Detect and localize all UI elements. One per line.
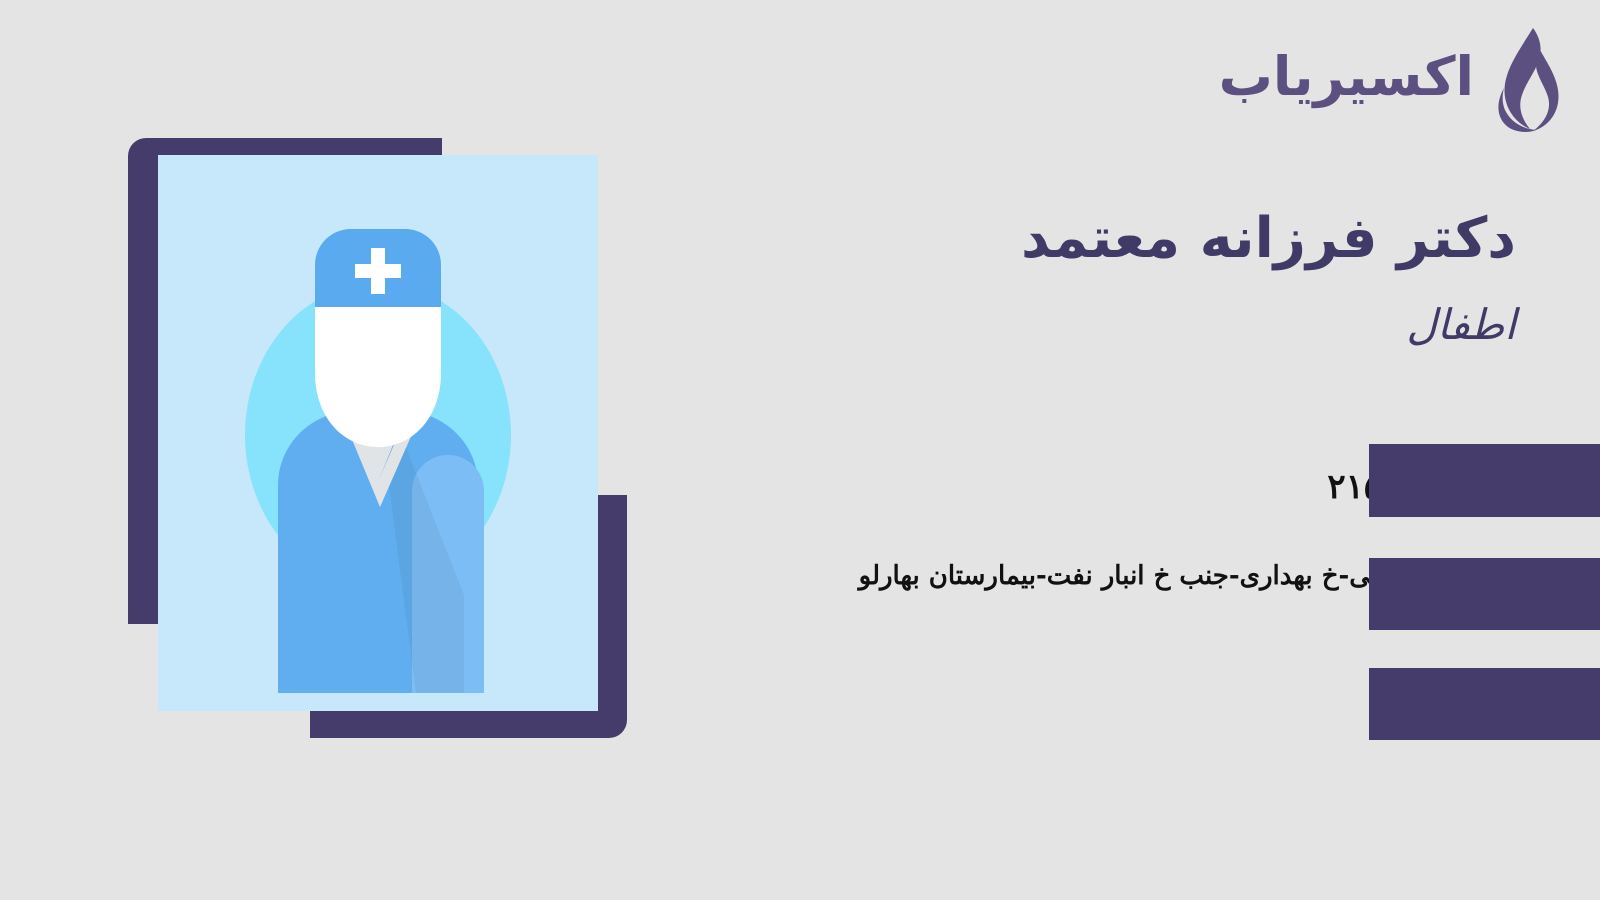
page-title: دکتر فرزانه معتمد — [536, 206, 1516, 272]
doctor-specialty: اطفال — [536, 300, 1516, 350]
accent-bar-2 — [1369, 558, 1600, 630]
doctor-profile-card: اکسیریاب — [0, 0, 1600, 900]
brand-name: اکسیریاب — [1219, 50, 1474, 110]
accent-bar-3 — [1369, 668, 1600, 740]
doctor-avatar-icon — [158, 155, 598, 711]
doctor-info: دکتر فرزانه معتمد اطفال ۲۱۵۵۶۴۷۳۷۲ خ کار… — [536, 206, 1516, 350]
brand-logo[interactable]: اکسیریاب — [1219, 26, 1566, 134]
accent-bar-1 — [1369, 444, 1600, 517]
doctor-photo-card — [158, 155, 598, 711]
flame-drop-icon — [1488, 26, 1566, 134]
